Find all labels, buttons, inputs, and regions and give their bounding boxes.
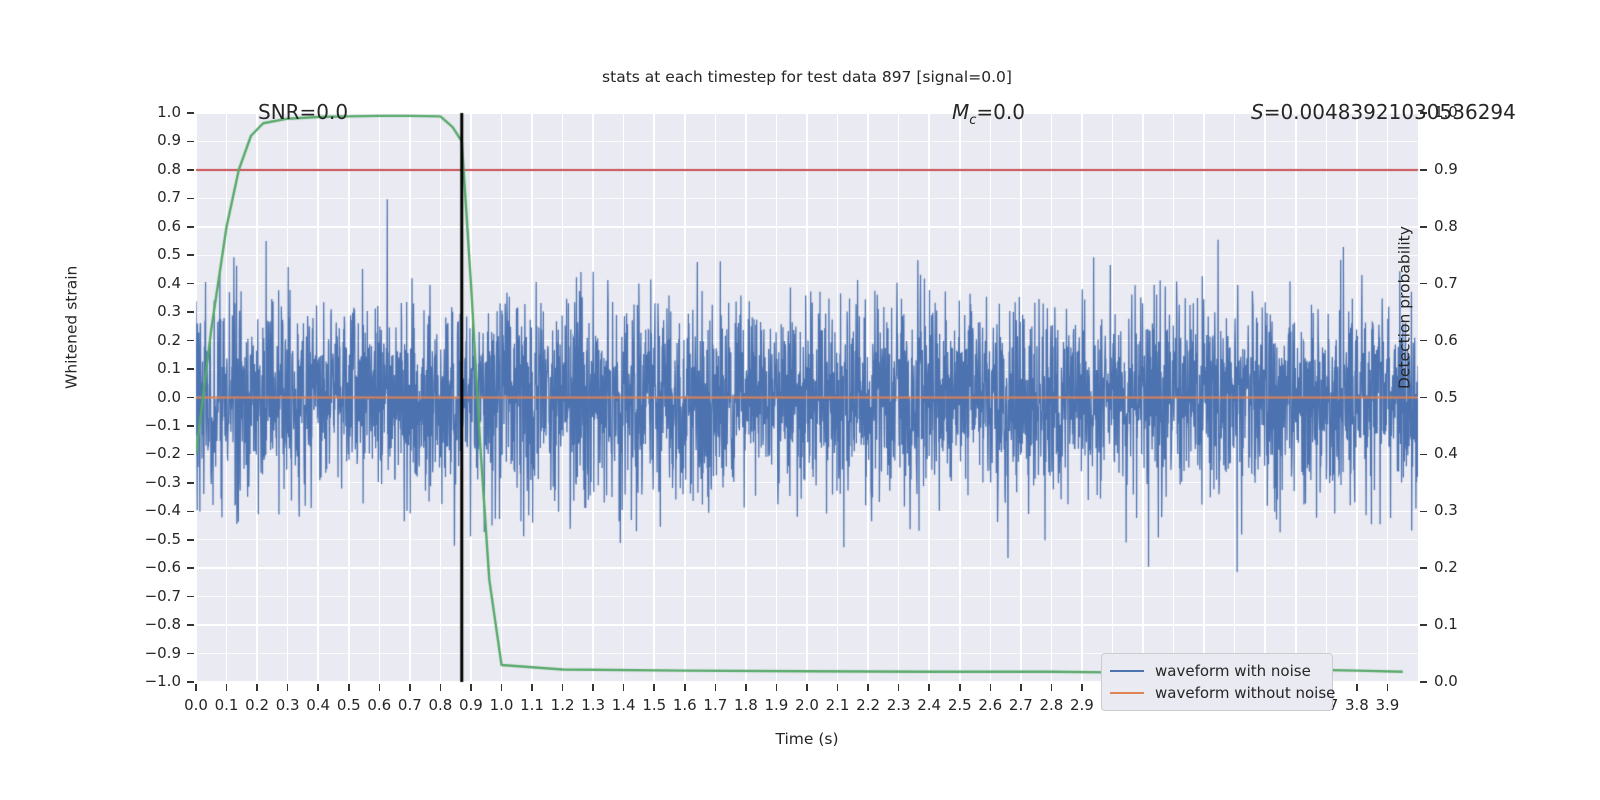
y-tick-label-left: 0.9 (121, 131, 181, 149)
y-tick-left (187, 112, 194, 114)
x-tick (1387, 684, 1389, 691)
x-tick (898, 684, 900, 691)
y-tick-left (187, 653, 194, 655)
x-tick (776, 684, 778, 691)
x-tick (226, 684, 228, 691)
x-axis-label: Time (s) (196, 730, 1418, 748)
y-tick-label-left: 0.1 (121, 359, 181, 377)
y-tick-right (1420, 681, 1427, 683)
x-tick (195, 684, 197, 691)
y-tick-left (187, 340, 194, 342)
y-tick-left (187, 539, 194, 541)
y-tick-right (1420, 454, 1427, 456)
y-tick-label-left: −0.1 (121, 416, 181, 434)
y-tick-right (1420, 567, 1427, 569)
y-tick-label-right: 0.3 (1434, 501, 1494, 519)
y-tick-right (1420, 340, 1427, 342)
y-tick-left (187, 511, 194, 513)
y-tick-right (1420, 226, 1427, 228)
legend-color-swatch (1110, 692, 1144, 695)
y-tick-label-right: 0.4 (1434, 444, 1494, 462)
x-tick (409, 684, 411, 691)
y-tick-label-left: 0.4 (121, 274, 181, 292)
y-tick-left (187, 624, 194, 626)
x-tick (1081, 684, 1083, 691)
y-tick-left (187, 482, 194, 484)
y-tick-label-left: 1.0 (121, 103, 181, 121)
chirp-mass-annotation: Mc=0.0 (952, 100, 1025, 128)
y-tick-left (187, 311, 194, 313)
y-tick-left (187, 425, 194, 427)
y-tick-right (1420, 397, 1427, 399)
y-tick-left (187, 596, 194, 598)
y-tick-label-right: 0.2 (1434, 558, 1494, 576)
x-tick (256, 684, 258, 691)
y-tick-label-right: 0.9 (1434, 160, 1494, 178)
y-tick-label-left: 0.0 (121, 388, 181, 406)
x-tick (806, 684, 808, 691)
y-tick-label-left: −1.0 (121, 672, 181, 690)
x-tick (562, 684, 564, 691)
x-tick (1020, 684, 1022, 691)
x-tick (531, 684, 533, 691)
x-tick (837, 684, 839, 691)
figure-canvas: stats at each timestep for test data 897… (0, 0, 1600, 800)
y-tick-left (187, 368, 194, 370)
y-tick-left (187, 397, 194, 399)
snr-annotation: SNR=0.0 (258, 100, 348, 124)
y-tick-left (187, 169, 194, 171)
y-tick-right (1420, 283, 1427, 285)
y-tick-label-left: −0.2 (121, 444, 181, 462)
x-tick (959, 684, 961, 691)
y-tick-label-left: −0.5 (121, 530, 181, 548)
y-tick-label-left: −0.9 (121, 644, 181, 662)
x-tick (990, 684, 992, 691)
x-tick-label: 3.9 (1365, 696, 1409, 714)
y-tick-left (187, 198, 194, 200)
y-tick-left (187, 254, 194, 256)
y-tick-label-left: −0.7 (121, 587, 181, 605)
y-tick-right (1420, 169, 1427, 171)
x-tick (317, 684, 319, 691)
y-tick-label-left: −0.4 (121, 501, 181, 519)
score-symbol: S (1251, 100, 1264, 124)
y-tick-left (187, 283, 194, 285)
y-tick-label-right: 0.0 (1434, 672, 1494, 690)
chart-title: stats at each timestep for test data 897… (196, 68, 1418, 86)
x-tick (867, 684, 869, 691)
y-tick-right (1420, 624, 1427, 626)
x-tick (592, 684, 594, 691)
legend-item-label: waveform without noise (1155, 684, 1335, 702)
legend-item[interactable]: waveform with noise (1110, 660, 1322, 682)
y-tick-label-left: 0.6 (121, 217, 181, 235)
x-tick (287, 684, 289, 691)
x-tick (653, 684, 655, 691)
score-annotation: S=0.00483921030536294 (1251, 100, 1516, 124)
legend-item[interactable]: waveform without noise (1110, 682, 1322, 704)
legend-item-label: waveform with noise (1155, 662, 1311, 680)
score-value: =0.00483921030536294 (1264, 100, 1516, 124)
y-tick-label-left: −0.3 (121, 473, 181, 491)
y-tick-label-left: −0.8 (121, 615, 181, 633)
legend-color-swatch (1110, 670, 1144, 673)
y-tick-label-right: 0.8 (1434, 217, 1494, 235)
y-tick-left (187, 454, 194, 456)
x-tick (1051, 684, 1053, 691)
y-tick-label-right: 0.1 (1434, 615, 1494, 633)
y-axis-label-left: Whitened strain (62, 265, 80, 388)
y-tick-left (187, 567, 194, 569)
x-tick (440, 684, 442, 691)
x-tick (928, 684, 930, 691)
y-axis-label-right: Detection probability (1396, 226, 1414, 389)
y-tick-left (187, 681, 194, 683)
x-tick (501, 684, 503, 691)
y-tick-left (187, 226, 194, 228)
x-tick (348, 684, 350, 691)
y-tick-label-left: −0.6 (121, 558, 181, 576)
y-tick-label-left: 0.2 (121, 331, 181, 349)
y-tick-left (187, 141, 194, 143)
chirp-mass-value: =0.0 (976, 100, 1025, 124)
y-tick-label-right: 0.5 (1434, 388, 1494, 406)
x-tick (684, 684, 686, 691)
y-tick-label-left: 0.8 (121, 160, 181, 178)
y-tick-right (1420, 511, 1427, 513)
chirp-mass-symbol: M (952, 100, 969, 124)
x-tick (745, 684, 747, 691)
y-tick-label-left: 0.3 (121, 302, 181, 320)
y-tick-label-left: 0.5 (121, 245, 181, 263)
legend[interactable]: waveform with noisewaveform without nois… (1101, 653, 1333, 711)
y-tick-label-left: 0.7 (121, 188, 181, 206)
x-tick (379, 684, 381, 691)
x-tick (1356, 684, 1358, 691)
y-tick-label-right: 0.6 (1434, 331, 1494, 349)
y-tick-label-right: 0.7 (1434, 274, 1494, 292)
x-tick (715, 684, 717, 691)
x-tick (623, 684, 625, 691)
x-tick (470, 684, 472, 691)
